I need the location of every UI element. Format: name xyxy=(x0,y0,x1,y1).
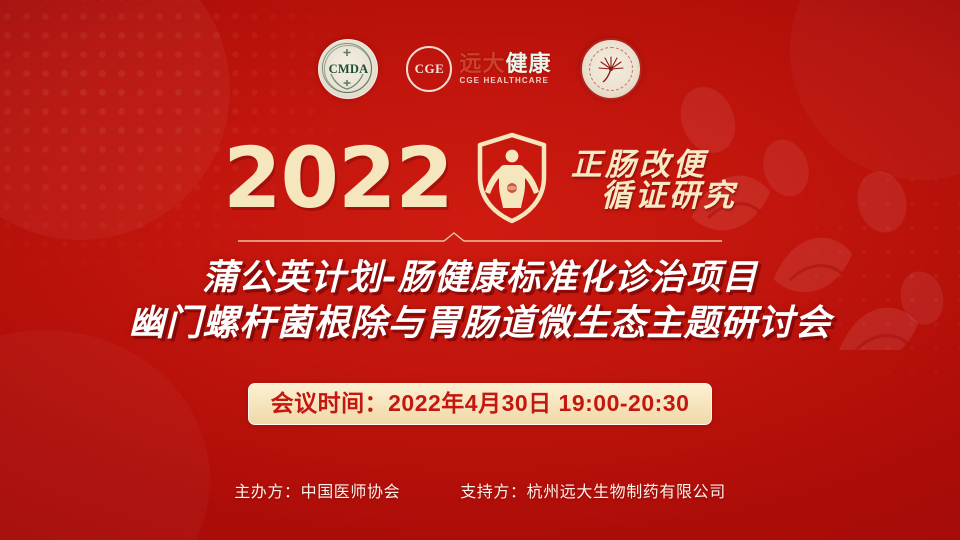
cmda-label: CMDA xyxy=(329,62,369,77)
logo-dandelion-seal xyxy=(580,38,642,100)
cge-monogram-icon: CGE xyxy=(406,46,452,92)
shield-human-body-icon xyxy=(475,132,549,224)
footer-supporter: 支持方：杭州远大生物制药有限公司 xyxy=(460,478,726,502)
cge-chinese-name-part1: 远大 xyxy=(459,51,505,76)
cge-chinese-name-part2: 健康 xyxy=(506,51,552,76)
cmda-seal-icon: CMDA xyxy=(318,39,378,99)
calligraphy-line-2: 循证研究 xyxy=(571,181,737,210)
title-line-2: 幽门螺杆菌根除与胃肠道微生态主题研讨会 xyxy=(0,301,960,347)
title-line-1: 蒲公英计划-肠健康标准化诊治项目 xyxy=(0,256,960,301)
calligraphy-line-1: 正肠改便 xyxy=(571,150,737,179)
sponsor-logo-row: CMDA CGE 远大健康 CGE HEALTHCARE xyxy=(0,38,960,100)
dandelion-seal-icon xyxy=(580,38,642,100)
logo-cmda: CMDA xyxy=(318,39,378,99)
decorative-divider xyxy=(238,230,722,244)
cge-chinese-name: 远大健康 xyxy=(459,53,551,75)
footer-credits: 主办方：中国医师协会 支持方：杭州远大生物制药有限公司 xyxy=(0,478,960,502)
dandelion-seal-inner-ring xyxy=(589,47,633,91)
meeting-time-banner: 会议时间：2022年4月30日 19:00-20:30 xyxy=(248,383,713,425)
logo-cge-healthcare: CGE 远大健康 CGE HEALTHCARE xyxy=(406,46,551,92)
title-block: 蒲公英计划-肠健康标准化诊治项目 幽门螺杆菌根除与胃肠道微生态主题研讨会 xyxy=(0,256,960,347)
cge-english-name: CGE HEALTHCARE xyxy=(459,76,551,85)
hero-row: 2022 正肠改便 循证研究 xyxy=(0,126,960,230)
cge-wordmark: 远大健康 CGE HEALTHCARE xyxy=(459,53,551,85)
year-2022: 2022 xyxy=(223,136,453,220)
webinar-poster: CMDA CGE 远大健康 CGE HEALTHCARE xyxy=(0,0,960,540)
footer-organizer: 主办方：中国医师协会 xyxy=(234,478,400,502)
time-banner-wrapper: 会议时间：2022年4月30日 19:00-20:30 xyxy=(0,383,960,425)
calligraphy-block: 正肠改便 循证研究 xyxy=(571,146,737,211)
